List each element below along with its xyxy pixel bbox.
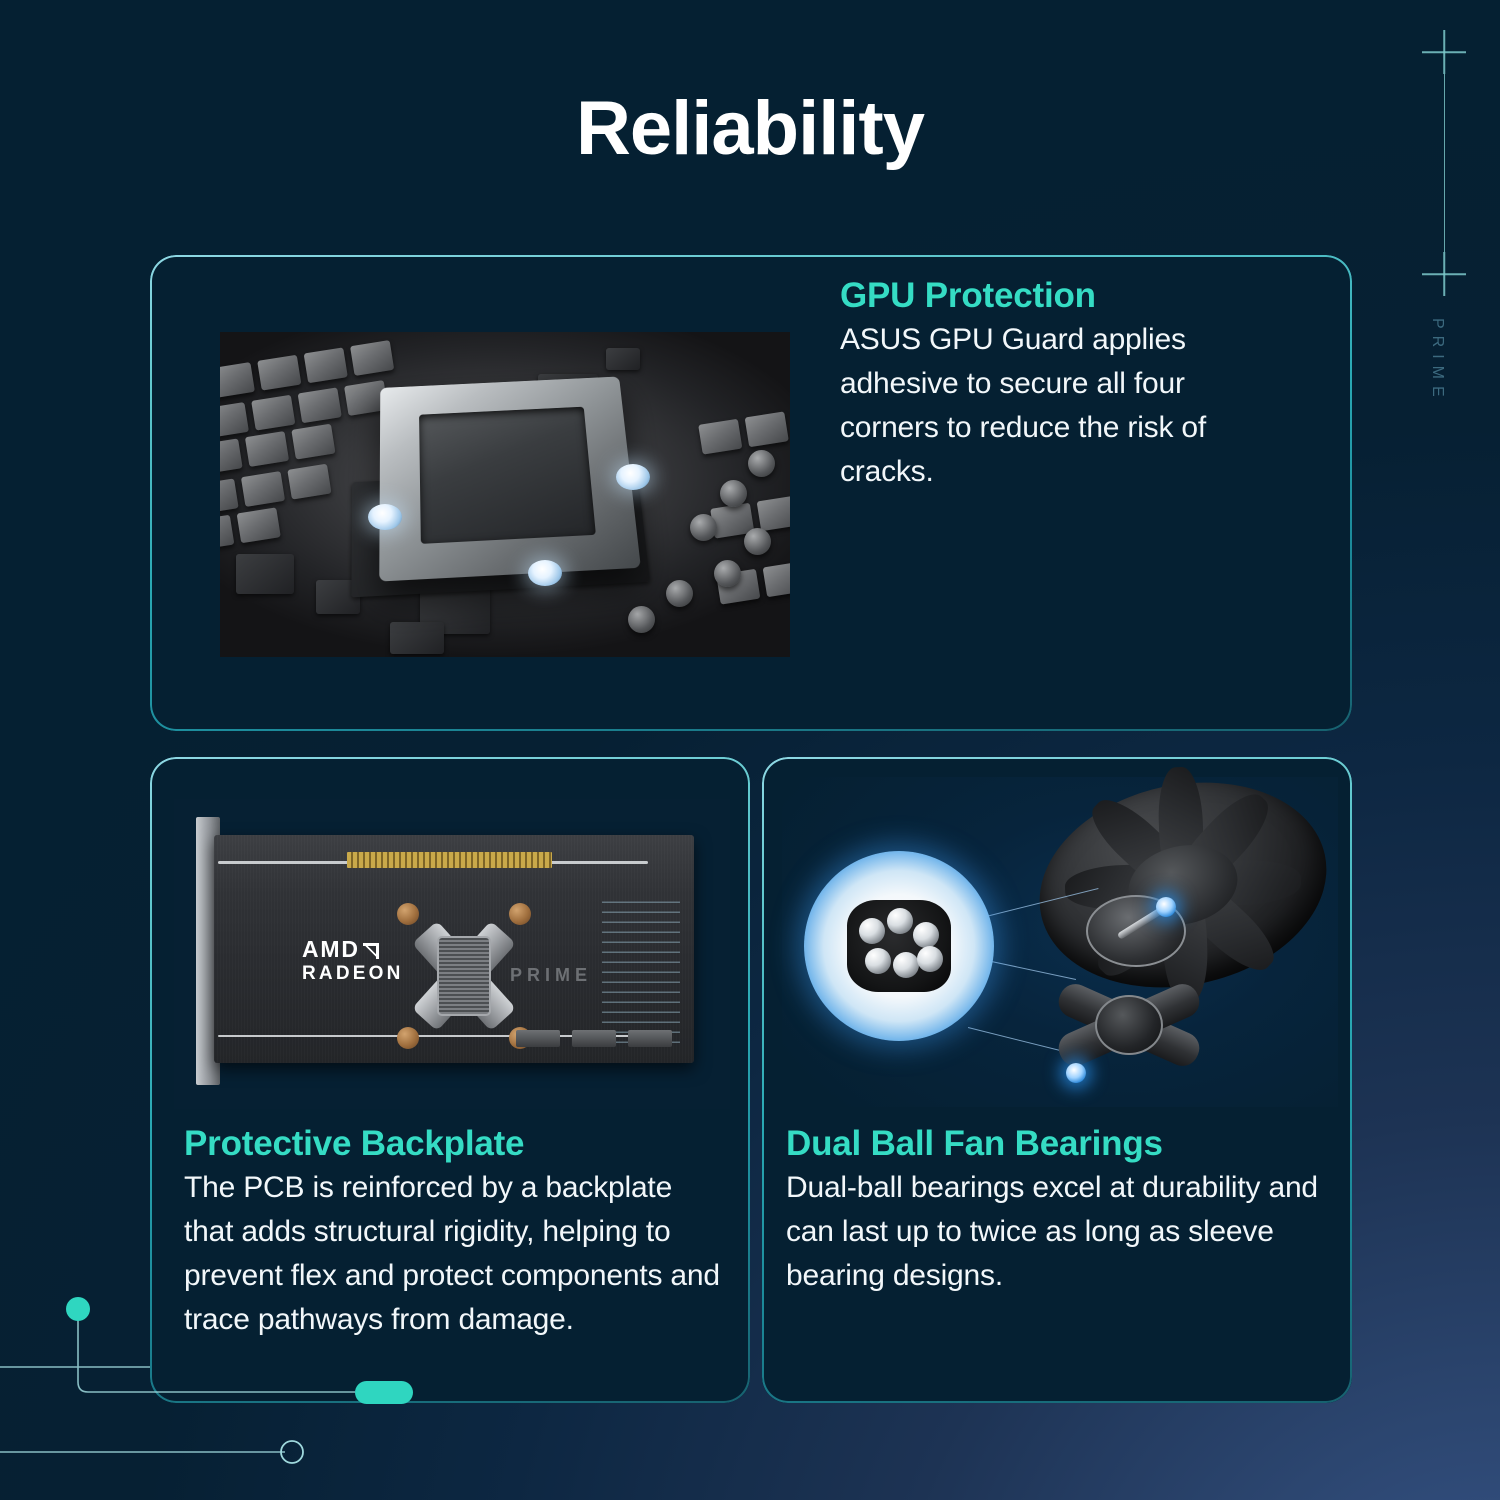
ball-bearing-magnifier	[804, 851, 994, 1041]
card-dual-ball-fan-bearings: Dual Ball Fan Bearings Dual-ball bearing…	[762, 757, 1352, 1403]
circuit-trace-decoration	[0, 1270, 520, 1500]
card-gpu-protection: GPU Protection ASUS GPU Guard applies ad…	[150, 255, 1352, 731]
gpu-protection-text-block: GPU Protection ASUS GPU Guard applies ad…	[840, 275, 1270, 493]
heatsink-fins	[602, 893, 680, 1043]
plus-icon-top	[1422, 30, 1466, 74]
adhesive-dot-left	[368, 504, 402, 530]
gpu-die	[379, 376, 641, 581]
backplate-body: AMD RADEON PRIME	[214, 835, 694, 1063]
circuit-pill	[355, 1381, 413, 1404]
gpu-protection-body: ASUS GPU Guard applies adhesive to secur…	[840, 318, 1270, 493]
fan-bearings-body: Dual-ball bearings excel at durability a…	[786, 1166, 1331, 1297]
plus-icon-bottom	[1422, 252, 1466, 296]
circuit-node-filled	[66, 1297, 90, 1321]
adhesive-dot-bottom	[528, 560, 562, 586]
fan-bearings-text-block: Dual Ball Fan Bearings Dual-ball bearing…	[786, 1123, 1331, 1298]
prime-vertical-label: PRIME	[1428, 318, 1446, 404]
adhesive-dot-right	[616, 464, 650, 490]
prime-crosshair-marker: PRIME	[1380, 0, 1500, 470]
backplate-heading: Protective Backplate	[184, 1123, 724, 1164]
amd-radeon-logo: AMD RADEON	[302, 937, 404, 984]
gpu-mounting-bracket	[399, 905, 529, 1047]
fan-bearing-exploded-photo	[782, 777, 1338, 1107]
bearing-assembly	[1044, 895, 1224, 1085]
graphics-card-backplate-photo: AMD RADEON PRIME	[174, 799, 730, 1109]
gpu-die-closeup-photo	[220, 332, 790, 657]
page-title: Reliability	[0, 85, 1500, 172]
page-background: PRIME Reliability	[0, 0, 1500, 1500]
pcie-edge-connector	[347, 852, 552, 868]
gpu-protection-heading: GPU Protection	[840, 275, 1270, 316]
fan-bearings-heading: Dual Ball Fan Bearings	[786, 1123, 1331, 1164]
